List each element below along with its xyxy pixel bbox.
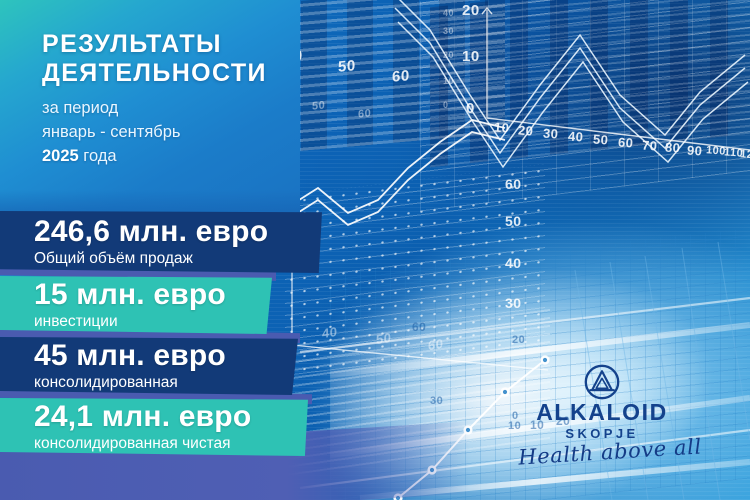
- alkaloid-logo: ALKALOID SKOPJE: [512, 364, 692, 440]
- stat-bar-total-sales: 246,6 млн. евро Общий объём продаж: [0, 211, 322, 273]
- page-title-line-2: ДЕЯТЕЛЬНОСТИ: [42, 59, 292, 88]
- subtitle-year-row: 2025 года: [42, 145, 292, 169]
- stat-label: консолидированная чистая: [34, 435, 308, 452]
- stat-bar-consolidated: 45 млн. евро консолидированная: [0, 337, 298, 395]
- stat-label: консолидированная: [34, 374, 298, 391]
- stat-value: 45 млн. евро: [34, 341, 298, 371]
- stat-bar-consolidated-net: 24,1 млн. евро консолидированная чистая: [0, 398, 308, 456]
- alkaloid-triangle-circle-icon: [584, 364, 620, 400]
- stat-label: Общий объём продаж: [34, 250, 322, 267]
- stat-value: 15 млн. евро: [34, 280, 272, 310]
- stat-value: 246,6 млн. евро: [34, 217, 322, 247]
- subtitle-year-suffix: года: [79, 147, 117, 165]
- subtitle-year: 2025: [42, 147, 79, 165]
- subtitle-period: за период: [42, 97, 292, 121]
- page-subtitle: за период январь - сентябрь 2025 года: [42, 97, 292, 169]
- page-title-line-1: РЕЗУЛЬТАТЫ: [42, 30, 292, 59]
- stat-bar-investments: 15 млн. евро инвестиции: [0, 276, 272, 334]
- stat-value: 24,1 млн. евро: [34, 402, 308, 432]
- poster-header: РЕЗУЛЬТАТЫ ДЕЯТЕЛЬНОСТИ за период январь…: [42, 30, 292, 169]
- logo-wordmark: ALKALOID: [512, 401, 692, 424]
- subtitle-months: январь - сентябрь: [42, 121, 292, 145]
- stat-label: инвестиции: [34, 313, 272, 330]
- infographic-poster: 40 50 60 40 50 60 20 10 0 40 30 20 10 0 …: [0, 0, 750, 500]
